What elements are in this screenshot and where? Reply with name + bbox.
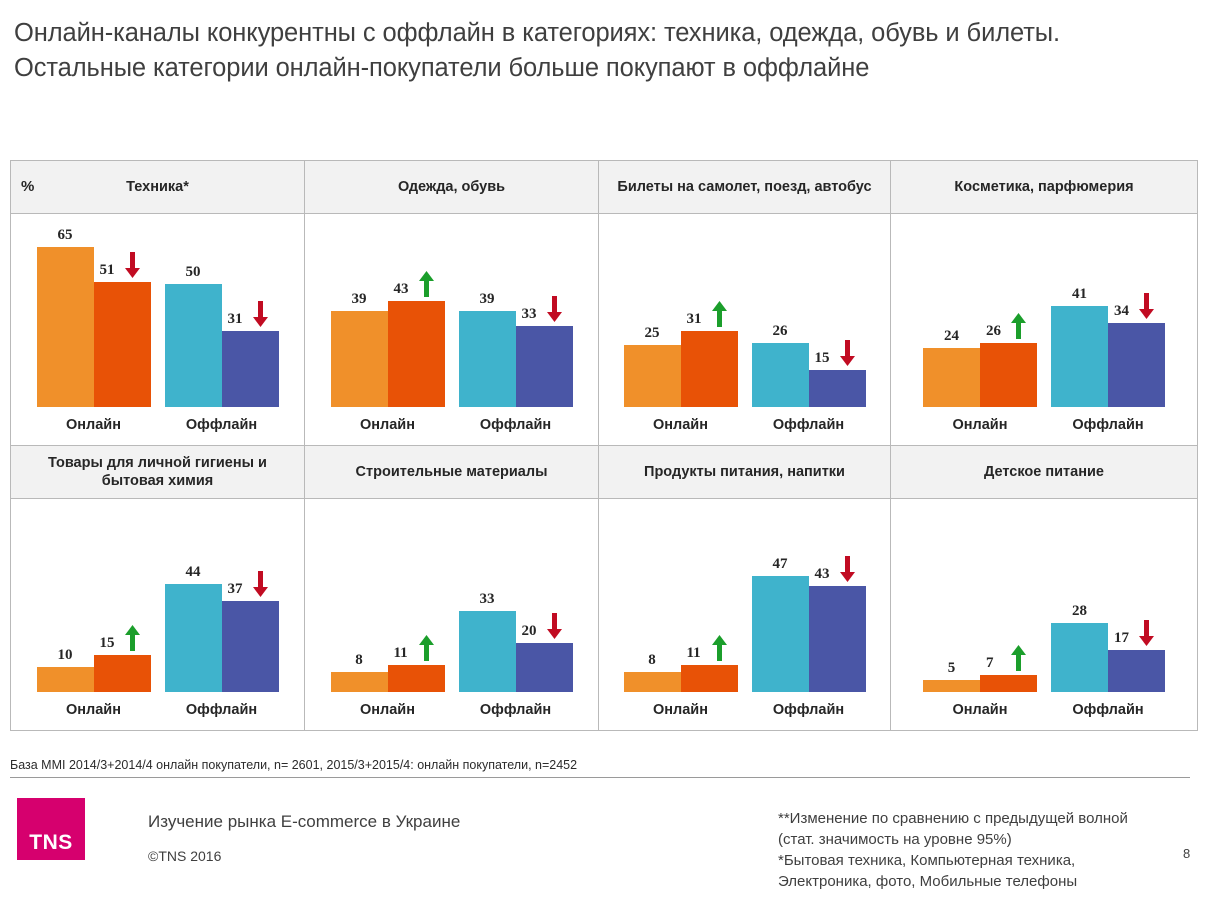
plot-area: 8114743 xyxy=(599,506,890,692)
arrow-up-icon xyxy=(1010,645,1027,671)
bar-group-online: 1015 xyxy=(37,655,151,692)
bar xyxy=(752,576,809,692)
panel-title-cell: Одежда, обувь xyxy=(305,161,599,213)
bar-column: 28 xyxy=(1051,623,1108,692)
bar-value-label: 11 xyxy=(388,645,445,662)
bar-column: 25 xyxy=(624,345,681,407)
axis-label-online: Онлайн xyxy=(37,417,151,433)
bar xyxy=(516,643,573,692)
bar xyxy=(1108,323,1165,407)
bar-group-offline: 5031 xyxy=(165,284,279,407)
arrow-down-icon xyxy=(839,556,856,582)
axis-label-offline: Оффлайн xyxy=(165,417,279,433)
bar-group-offline: 4437 xyxy=(165,584,279,692)
axis-tick-labels: ОнлайнОффлайн xyxy=(599,702,890,718)
bar xyxy=(923,680,980,692)
bar-value-label: 15 xyxy=(94,635,151,652)
bar xyxy=(37,247,94,407)
arrow-up-icon xyxy=(124,625,141,651)
bar-series: 8113320 xyxy=(305,506,598,692)
arrow-up-icon xyxy=(418,271,435,297)
bar-column: 8 xyxy=(624,672,681,692)
bar-value-label: 10 xyxy=(37,647,94,664)
bar-column: 5 xyxy=(923,680,980,692)
axis-label-offline: Оффлайн xyxy=(459,417,573,433)
panel-header-row: %Техника*Одежда, обувьБилеты на самолет,… xyxy=(11,161,1197,214)
bar-column: 24 xyxy=(923,348,980,407)
bar-column: 31 xyxy=(222,331,279,407)
bar-value-label: 34 xyxy=(1108,303,1165,320)
axis-label-online: Онлайн xyxy=(624,702,738,718)
bar-series: 39433933 xyxy=(305,221,598,407)
bar xyxy=(222,601,279,692)
bar-group-online: 2531 xyxy=(624,331,738,407)
bar-group-online: 6551 xyxy=(37,247,151,407)
bar-value-label: 65 xyxy=(37,227,94,244)
panel-title: Одежда, обувь xyxy=(398,178,505,196)
bar-column: 33 xyxy=(459,611,516,692)
bar xyxy=(388,665,445,692)
bar xyxy=(94,655,151,692)
bar-series: 8114743 xyxy=(599,506,890,692)
chart-panel: 8114743ОнлайнОффлайн xyxy=(599,499,891,730)
bar-value-label: 24 xyxy=(923,328,980,345)
axis-label-offline: Оффлайн xyxy=(165,702,279,718)
bar-value-label: 8 xyxy=(331,652,388,669)
panel-title-cell: Билеты на самолет, поезд, автобус xyxy=(599,161,891,213)
bar-group-online: 811 xyxy=(624,665,738,692)
axis-label-offline: Оффлайн xyxy=(1051,702,1165,718)
axis-tick-labels: ОнлайнОффлайн xyxy=(891,417,1197,433)
bar-value-label: 28 xyxy=(1051,603,1108,620)
arrow-down-icon xyxy=(546,613,563,639)
bar xyxy=(165,284,222,407)
bar xyxy=(681,331,738,407)
bar-value-label: 7 xyxy=(980,655,1037,672)
bar xyxy=(809,586,866,692)
bar-value-label: 15 xyxy=(809,350,866,367)
bar xyxy=(388,301,445,407)
bar xyxy=(1051,306,1108,407)
bar xyxy=(165,584,222,692)
plot-area: 39433933 xyxy=(305,221,598,407)
arrow-down-icon xyxy=(839,340,856,366)
percent-unit-label: % xyxy=(21,178,34,196)
bar-value-label: 5 xyxy=(923,660,980,677)
bar-column: 15 xyxy=(94,655,151,692)
bar-group-offline: 4743 xyxy=(752,576,866,692)
axis-label-online: Онлайн xyxy=(923,417,1037,433)
arrow-down-icon xyxy=(1138,620,1155,646)
bar xyxy=(222,331,279,407)
copyright-text: ©TNS 2016 xyxy=(148,848,221,864)
bar-column: 37 xyxy=(222,601,279,692)
bar-value-label: 41 xyxy=(1051,286,1108,303)
bar-value-label: 31 xyxy=(681,311,738,328)
bar-value-label: 47 xyxy=(752,556,809,573)
bar-column: 44 xyxy=(165,584,222,692)
bar-column: 26 xyxy=(752,343,809,407)
panel-title-cell: Строительные материалы xyxy=(305,446,599,498)
bar-column: 31 xyxy=(681,331,738,407)
bar-group-online: 57 xyxy=(923,675,1037,692)
plot-area: 24264134 xyxy=(891,221,1197,407)
axis-label-online: Онлайн xyxy=(37,702,151,718)
bar-column: 26 xyxy=(980,343,1037,407)
chart-grid: %Техника*Одежда, обувьБилеты на самолет,… xyxy=(10,160,1198,731)
bar-value-label: 31 xyxy=(222,311,279,328)
axis-label-online: Онлайн xyxy=(923,702,1037,718)
bar xyxy=(681,665,738,692)
tns-logo: TNS xyxy=(17,798,85,860)
footnote-change: **Изменение по сравнению с предыдущей во… xyxy=(778,808,1158,850)
chart-panel: 25312615ОнлайнОффлайн xyxy=(599,214,891,445)
bar xyxy=(459,611,516,692)
bar-series: 65515031 xyxy=(11,221,304,407)
bar xyxy=(1108,650,1165,692)
panel-title: Техника* xyxy=(126,178,189,196)
bar-value-label: 17 xyxy=(1108,630,1165,647)
bar-group-online: 2426 xyxy=(923,343,1037,407)
axis-tick-labels: ОнлайнОффлайн xyxy=(305,417,598,433)
panel-title-cell: Товары для личной гигиены и бытовая хими… xyxy=(11,446,305,498)
bar-value-label: 39 xyxy=(331,291,388,308)
bar-value-label: 50 xyxy=(165,264,222,281)
arrow-down-icon xyxy=(252,301,269,327)
bar-column: 47 xyxy=(752,576,809,692)
panel-title-cell: Продукты питания, напитки xyxy=(599,446,891,498)
panel-title: Товары для личной гигиены и бытовая хими… xyxy=(17,454,298,490)
panel-title: Детское питание xyxy=(984,463,1104,481)
panel-title: Продукты питания, напитки xyxy=(644,463,845,481)
bar xyxy=(980,675,1037,692)
panel-body-row: 65515031ОнлайнОффлайн39433933ОнлайнОффла… xyxy=(11,214,1197,446)
plot-area: 25312615 xyxy=(599,221,890,407)
axis-label-offline: Оффлайн xyxy=(459,702,573,718)
base-note: База MMI 2014/3+2014/4 онлайн покупатели… xyxy=(10,758,1190,778)
bar-column: 65 xyxy=(37,247,94,407)
tns-logo-text: TNS xyxy=(17,831,85,855)
axis-label-online: Онлайн xyxy=(331,417,445,433)
bar xyxy=(331,672,388,692)
bar-column: 11 xyxy=(681,665,738,692)
bar xyxy=(809,370,866,407)
footnotes: **Изменение по сравнению с предыдущей во… xyxy=(778,808,1158,892)
bar xyxy=(37,667,94,692)
plot-area: 65515031 xyxy=(11,221,304,407)
axis-tick-labels: ОнлайнОффлайн xyxy=(305,702,598,718)
chart-panel: 8113320ОнлайнОффлайн xyxy=(305,499,599,730)
panel-title: Строительные материалы xyxy=(356,463,548,481)
footnote-tech: *Бытовая техника, Компьютерная техника, … xyxy=(778,850,1158,892)
axis-tick-labels: ОнлайнОффлайн xyxy=(11,417,304,433)
bar-group-offline: 3933 xyxy=(459,311,573,407)
bar-column: 43 xyxy=(809,586,866,692)
bar-group-offline: 3320 xyxy=(459,611,573,692)
arrow-down-icon xyxy=(124,252,141,278)
bar-group-offline: 4134 xyxy=(1051,306,1165,407)
bar-column: 33 xyxy=(516,326,573,407)
panel-title: Косметика, парфюмерия xyxy=(954,178,1133,196)
bar-series: 10154437 xyxy=(11,506,304,692)
arrow-down-icon xyxy=(1138,293,1155,319)
axis-label-online: Онлайн xyxy=(331,702,445,718)
bar xyxy=(331,311,388,407)
bar xyxy=(624,672,681,692)
bar-group-online: 811 xyxy=(331,665,445,692)
bar-column: 8 xyxy=(331,672,388,692)
bar-value-label: 33 xyxy=(516,306,573,323)
bar xyxy=(624,345,681,407)
bar xyxy=(459,311,516,407)
panel-title-cell: Детское питание xyxy=(891,446,1197,498)
chart-panel: 39433933ОнлайнОффлайн xyxy=(305,214,599,445)
panel-title-cell: Косметика, парфюмерия xyxy=(891,161,1197,213)
bar-group-offline: 2615 xyxy=(752,343,866,407)
bar-series: 25312615 xyxy=(599,221,890,407)
bar-column: 15 xyxy=(809,370,866,407)
bar-column: 20 xyxy=(516,643,573,692)
axis-tick-labels: ОнлайнОффлайн xyxy=(11,702,304,718)
axis-tick-labels: ОнлайнОффлайн xyxy=(599,417,890,433)
bar-series: 24264134 xyxy=(891,221,1197,407)
panel-body-row: 10154437ОнлайнОффлайн8113320ОнлайнОффлай… xyxy=(11,499,1197,730)
page-title: Онлайн-каналы конкурентны с оффлайн в ка… xyxy=(14,16,1154,86)
bar-column: 17 xyxy=(1108,650,1165,692)
panel-title: Билеты на самолет, поезд, автобус xyxy=(617,178,871,196)
bar-column: 51 xyxy=(94,282,151,407)
arrow-up-icon xyxy=(418,635,435,661)
axis-label-online: Онлайн xyxy=(624,417,738,433)
bar xyxy=(980,343,1037,407)
bar-value-label: 26 xyxy=(980,323,1037,340)
bar-column: 43 xyxy=(388,301,445,407)
panel-header-row: Товары для личной гигиены и бытовая хими… xyxy=(11,446,1197,499)
bar-value-label: 43 xyxy=(388,281,445,298)
plot-area: 8113320 xyxy=(305,506,598,692)
arrow-up-icon xyxy=(711,635,728,661)
bar-column: 11 xyxy=(388,665,445,692)
chart-panel: 24264134ОнлайнОффлайн xyxy=(891,214,1197,445)
axis-label-offline: Оффлайн xyxy=(752,417,866,433)
axis-label-offline: Оффлайн xyxy=(752,702,866,718)
bar-group-offline: 2817 xyxy=(1051,623,1165,692)
bar-column: 41 xyxy=(1051,306,1108,407)
bar-group-online: 3943 xyxy=(331,301,445,407)
plot-area: 10154437 xyxy=(11,506,304,692)
study-title: Изучение рынка E-commerce в Украине xyxy=(148,812,460,832)
bar-value-label: 33 xyxy=(459,591,516,608)
bar-value-label: 25 xyxy=(624,325,681,342)
bar-value-label: 8 xyxy=(624,652,681,669)
plot-area: 572817 xyxy=(891,506,1197,692)
bar-column: 39 xyxy=(331,311,388,407)
bar xyxy=(1051,623,1108,692)
bar-value-label: 51 xyxy=(94,262,151,279)
chart-panel: 10154437ОнлайнОффлайн xyxy=(11,499,305,730)
page-number: 8 xyxy=(1183,846,1190,861)
bar xyxy=(94,282,151,407)
bar-column: 34 xyxy=(1108,323,1165,407)
arrow-down-icon xyxy=(546,296,563,322)
bar-column: 10 xyxy=(37,667,94,692)
panel-title-cell: %Техника* xyxy=(11,161,305,213)
bar xyxy=(923,348,980,407)
bar-value-label: 37 xyxy=(222,581,279,598)
bar-value-label: 26 xyxy=(752,323,809,340)
arrow-up-icon xyxy=(1010,313,1027,339)
chart-panel: 572817ОнлайнОффлайн xyxy=(891,499,1197,730)
bar-series: 572817 xyxy=(891,506,1197,692)
chart-panel: 65515031ОнлайнОффлайн xyxy=(11,214,305,445)
axis-tick-labels: ОнлайнОффлайн xyxy=(891,702,1197,718)
bar-value-label: 43 xyxy=(809,566,866,583)
arrow-up-icon xyxy=(711,301,728,327)
bar-value-label: 11 xyxy=(681,645,738,662)
bar-value-label: 39 xyxy=(459,291,516,308)
axis-label-offline: Оффлайн xyxy=(1051,417,1165,433)
bar-value-label: 20 xyxy=(516,623,573,640)
bar xyxy=(516,326,573,407)
bar xyxy=(752,343,809,407)
bar-column: 7 xyxy=(980,675,1037,692)
bar-value-label: 44 xyxy=(165,564,222,581)
bar-column: 50 xyxy=(165,284,222,407)
bar-column: 39 xyxy=(459,311,516,407)
arrow-down-icon xyxy=(252,571,269,597)
